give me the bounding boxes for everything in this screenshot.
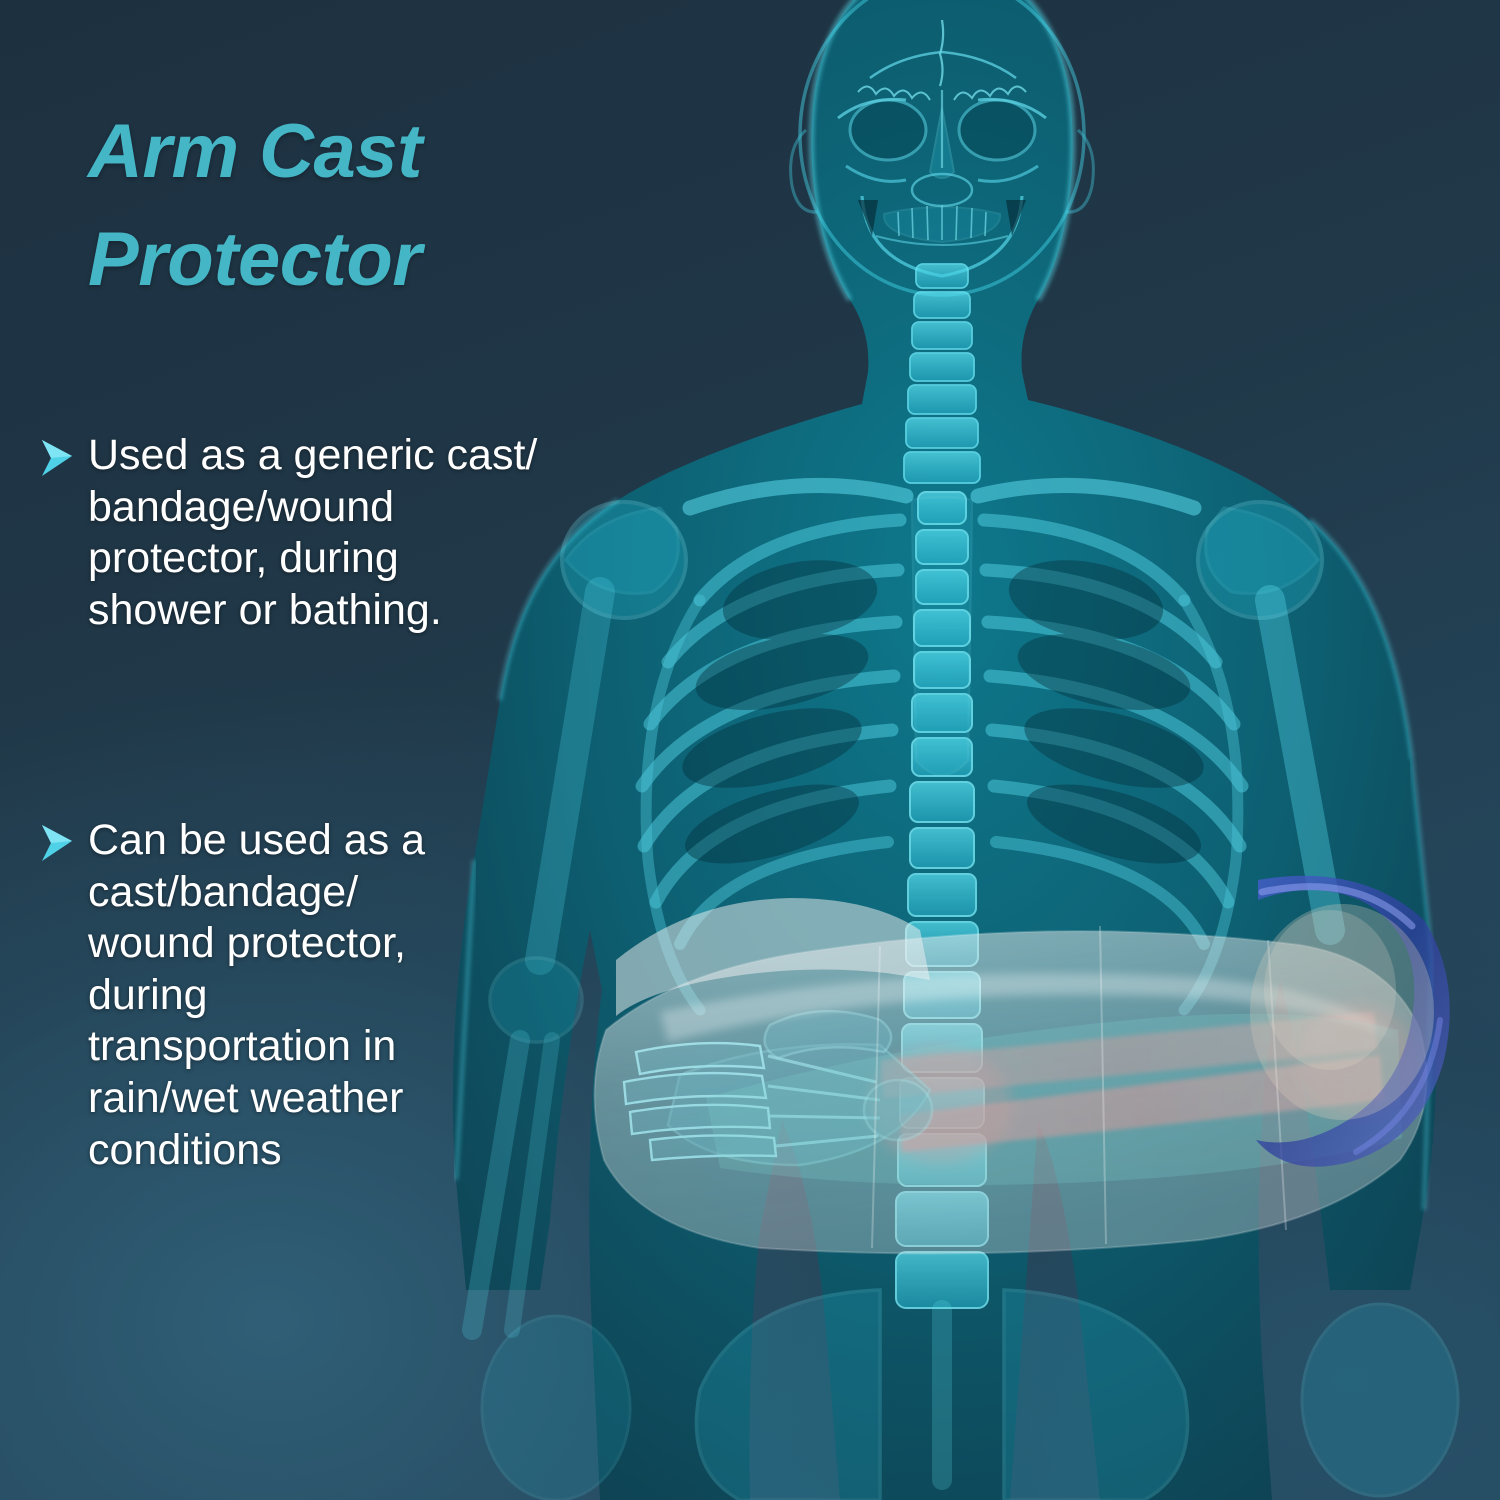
ribcage (642, 520, 1242, 1010)
clavicle-and-scapula (562, 485, 1322, 618)
skull (791, 0, 1094, 295)
arrow-bullet-icon (38, 821, 76, 865)
injured-forearm-right (868, 600, 1416, 1163)
feature-item-1: Used as a generic cast/ bandage/wound pr… (38, 430, 598, 636)
pelvis (482, 1290, 1458, 1500)
product-infographic: Arm Cast Protector Used as a generic cas… (0, 0, 1500, 1500)
elastic-seal-ring (1250, 876, 1450, 1167)
product-title: Arm Cast Protector (88, 98, 708, 314)
humerus-left (472, 592, 600, 1330)
cervical-spine (904, 264, 980, 483)
feature-item-2: Can be used as a cast/bandage/ wound pro… (38, 815, 458, 1176)
hand-bones (624, 1011, 932, 1165)
feature-text-1: Used as a generic cast/ bandage/wound pr… (88, 430, 537, 636)
feature-text-2: Can be used as a cast/bandage/ wound pro… (88, 815, 425, 1176)
cast-protector-sleeve (594, 898, 1426, 1253)
spine (896, 492, 988, 1308)
arrow-bullet-icon (38, 436, 76, 480)
